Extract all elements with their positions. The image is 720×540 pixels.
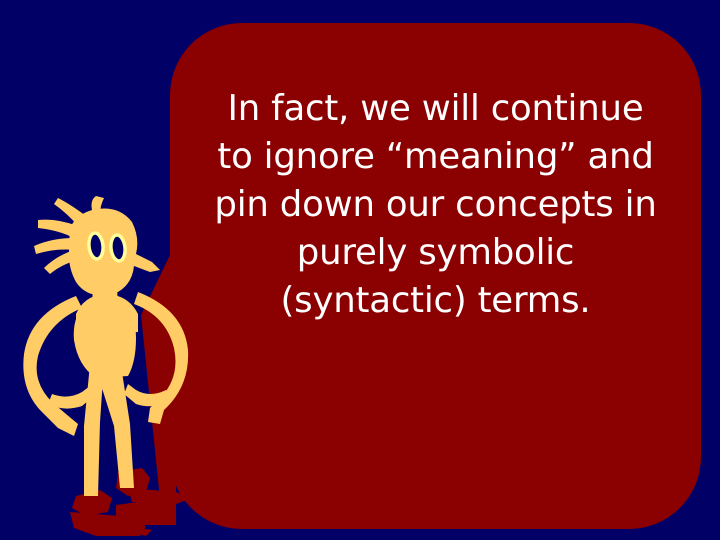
right-eye xyxy=(110,234,127,261)
callout-body-text: In fact, we will continue to ignore “mea… xyxy=(188,85,683,325)
presentation-slide: In fact, we will continue to ignore “mea… xyxy=(0,0,720,540)
text-callout-box: In fact, we will continue to ignore “mea… xyxy=(170,23,701,529)
cartoon-character-svg xyxy=(0,196,210,540)
cartoon-character-figure xyxy=(0,196,210,540)
left-eye xyxy=(88,232,105,259)
character-head xyxy=(34,196,160,296)
